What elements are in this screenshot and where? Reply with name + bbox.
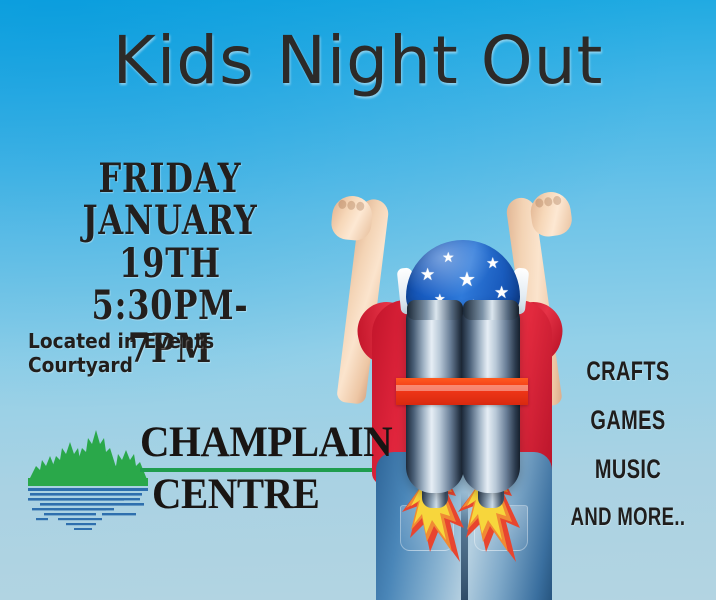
right-fist xyxy=(528,189,574,238)
champlain-centre-logo: CHAMPLAIN CENTRE xyxy=(28,408,358,533)
bottle-cap-left xyxy=(407,300,463,320)
poster-headline: Kids Night Out xyxy=(0,22,716,99)
logo-line-centre: CENTRE xyxy=(152,470,319,519)
helmet-star-icon: ★ xyxy=(442,250,455,264)
activities-list: CRAFTS GAMES MUSIC AND MORE.. xyxy=(540,358,716,530)
pine-trees-lake-icon xyxy=(28,408,148,530)
event-location: Located in Events Courtyard xyxy=(28,329,307,377)
event-day: FRIDAY xyxy=(58,158,282,200)
activity-item: MUSIC xyxy=(563,456,693,483)
activity-item: CRAFTS xyxy=(563,358,693,385)
logo-line-champlain: CHAMPLAIN xyxy=(140,424,360,463)
event-date: JANUARY 19TH xyxy=(58,200,282,285)
helmet-star-icon: ★ xyxy=(420,266,435,283)
activity-item: AND MORE.. xyxy=(563,505,693,530)
helmet-star-icon: ★ xyxy=(458,270,476,290)
bottle-cap-right xyxy=(463,300,519,320)
helmet-star-icon: ★ xyxy=(494,284,509,301)
helmet-star-icon: ★ xyxy=(486,256,499,271)
logo-wordmark: CHAMPLAIN xyxy=(140,424,372,463)
poster-canvas: ★ ★ ★ ★ ★ ★ ★ Kids Night Out xyxy=(0,0,716,600)
red-tape-band xyxy=(396,378,528,405)
activity-item: GAMES xyxy=(563,407,693,434)
